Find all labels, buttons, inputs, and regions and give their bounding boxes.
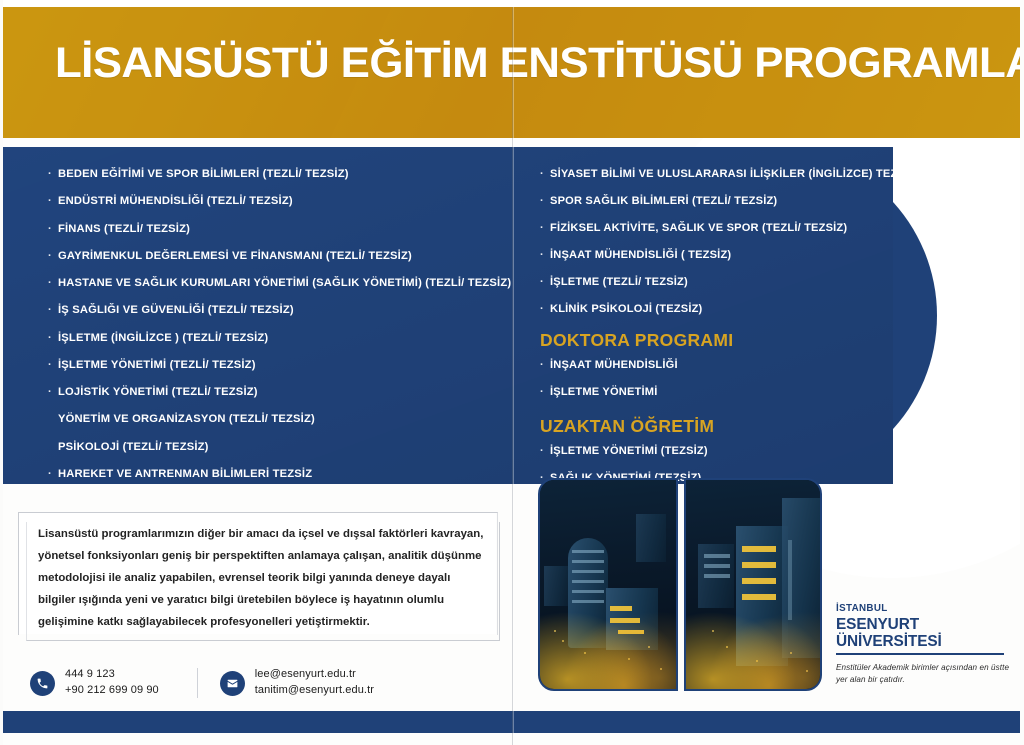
paper-edge-top: [0, 0, 1024, 7]
list-item-label: İŞ SAĞLIĞI VE GÜVENLİĞİ (TEZLİ/ TEZSİZ): [58, 304, 294, 317]
contact-divider: [197, 668, 198, 698]
list-item-label: İŞLETME (İNGİLİZCE ) (TEZLİ/ TEZSİZ): [58, 332, 268, 345]
list-item[interactable]: ·KLİNİK PSİKOLOJİ (TEZSİZ): [540, 303, 920, 316]
phone-line-1: 444 9 123: [65, 667, 159, 683]
list-item-label: ENDÜSTRİ MÜHENDİSLİĞİ (TEZLİ/ TEZSİZ): [58, 195, 293, 208]
list-item[interactable]: ·PSİKOLOJİ (TEZLİ/ TEZSİZ): [48, 441, 508, 454]
logo-university-name: ESENYURT ÜNİVERSİTESİ: [836, 616, 1014, 651]
description-card: Lisansüstü programlarımızın diğer bir am…: [18, 512, 496, 634]
list-item[interactable]: ·SİYASET BİLİMİ VE ULUSLARARASI İLİŞKİLE…: [540, 168, 920, 181]
logo-city-label: İSTANBUL: [836, 604, 1014, 615]
bullet-icon: ·: [540, 222, 550, 235]
campus-photo-right: [684, 478, 822, 691]
bullet-icon: ·: [48, 223, 58, 236]
list-item[interactable]: ·HAREKET VE ANTRENMAN BİLİMLERİ TEZSİZ: [48, 468, 508, 481]
list-item[interactable]: ·İŞLETME YÖNETİMİ: [540, 386, 920, 399]
list-item[interactable]: ·YÖNETİM VE ORGANİZASYON (TEZLİ/ TEZSİZ): [48, 413, 508, 426]
bullet-icon: ·: [48, 195, 58, 208]
list-item-label: İNŞAAT MÜHENDİSLİĞİ ( TEZSİZ): [550, 249, 731, 262]
bullet-icon: ·: [48, 332, 58, 345]
email-lines: lee@esenyurt.edu.tr tanitim@esenyurt.edu…: [255, 667, 374, 698]
bullet-icon: ·: [48, 359, 58, 372]
bullet-icon: ·: [540, 168, 550, 181]
paper-edge-right: [1020, 0, 1024, 745]
list-item[interactable]: ·GAYRİMENKUL DEĞERLEMESİ VE FİNANSMANI (…: [48, 250, 508, 263]
list-item-label: SPOR SAĞLIK BİLİMLERİ (TEZLİ/ TEZSİZ): [550, 195, 777, 208]
bullet-icon: ·: [540, 359, 550, 372]
list-item-label: FİZİKSEL AKTİVİTE, SAĞLIK VE SPOR (TEZLİ…: [550, 222, 847, 235]
bullet-icon: ·: [48, 386, 58, 399]
programs-left-column: ·BEDEN EĞİTİMİ VE SPOR BİLİMLERİ (TEZLİ/…: [48, 168, 508, 495]
contact-row: 444 9 123 +90 212 699 09 90 lee@esenyurt…: [30, 661, 374, 705]
list-item[interactable]: ·HASTANE VE SAĞLIK KURUMLARI YÖNETİMİ (S…: [48, 277, 508, 290]
list-item-label: PSİKOLOJİ (TEZLİ/ TEZSİZ): [58, 441, 209, 454]
bullet-icon: ·: [48, 277, 58, 290]
list-item[interactable]: ·BEDEN EĞİTİMİ VE SPOR BİLİMLERİ (TEZLİ/…: [48, 168, 508, 181]
phone-lines: 444 9 123 +90 212 699 09 90: [65, 667, 159, 698]
university-logo-block: İSTANBUL ESENYURT ÜNİVERSİTESİ Enstitüle…: [836, 604, 1014, 687]
list-item-label: SİYASET BİLİMİ VE ULUSLARARASI İLİŞKİLER…: [550, 168, 915, 181]
page-title: LİSANSÜSTÜ EĞİTİM ENSTİTÜSÜ PROGRAMLARI: [55, 42, 1014, 85]
envelope-icon: [220, 671, 245, 696]
logo-tagline: Enstitüler Akademik birimler açısından e…: [836, 662, 1014, 686]
bullet-icon: ·: [48, 250, 58, 263]
list-item[interactable]: ·İNŞAAT MÜHENDİSLİĞİ: [540, 359, 920, 372]
bullet-icon: ·: [540, 386, 550, 399]
list-item[interactable]: ·İŞLETME (İNGİLİZCE ) (TEZLİ/ TEZSİZ): [48, 332, 508, 345]
list-item[interactable]: ·İŞLETME YÖNETİMİ (TEZLİ/ TEZSİZ): [48, 359, 508, 372]
contact-email[interactable]: lee@esenyurt.edu.tr tanitim@esenyurt.edu…: [220, 667, 374, 698]
list-item-label: İNŞAAT MÜHENDİSLİĞİ: [550, 359, 678, 372]
list-item-label: İŞLETME YÖNETİMİ (TEZLİ/ TEZSİZ): [58, 359, 256, 372]
phone-line-2: +90 212 699 09 90: [65, 683, 159, 699]
bullet-icon: ·: [540, 249, 550, 262]
logo-underline: [836, 653, 1004, 655]
list-item-label: İŞLETME YÖNETİMİ: [550, 386, 657, 399]
list-item-label: BEDEN EĞİTİMİ VE SPOR BİLİMLERİ (TEZLİ/ …: [58, 168, 349, 181]
list-item[interactable]: ·İŞ SAĞLIĞI VE GÜVENLİĞİ (TEZLİ/ TEZSİZ): [48, 304, 508, 317]
list-item-label: İŞLETME YÖNETİMİ (TEZSİZ): [550, 445, 708, 458]
list-item-label: FİNANS (TEZLİ/ TEZSİZ): [58, 223, 190, 236]
programs-right-column: ·SİYASET BİLİMİ VE ULUSLARARASI İLİŞKİLE…: [540, 168, 920, 499]
campus-photo-pair: [538, 478, 822, 693]
list-item-label: HASTANE VE SAĞLIK KURUMLARI YÖNETİMİ (SA…: [58, 277, 511, 290]
list-item[interactable]: ·İNŞAAT MÜHENDİSLİĞİ ( TEZSİZ): [540, 249, 920, 262]
section-heading-uzaktan: UZAKTAN ÖĞRETİM: [540, 416, 920, 437]
bullet-icon: ·: [540, 276, 550, 289]
list-item-label: YÖNETİM VE ORGANİZASYON (TEZLİ/ TEZSİZ): [58, 413, 315, 426]
list-item[interactable]: ·ENDÜSTRİ MÜHENDİSLİĞİ (TEZLİ/ TEZSİZ): [48, 195, 508, 208]
bullet-icon: ·: [48, 304, 58, 317]
paper-edge-left: [0, 0, 3, 745]
list-item[interactable]: ·SPOR SAĞLIK BİLİMLERİ (TEZLİ/ TEZSİZ): [540, 195, 920, 208]
email-line-2: tanitim@esenyurt.edu.tr: [255, 683, 374, 699]
list-item-label: HAREKET VE ANTRENMAN BİLİMLERİ TEZSİZ: [58, 468, 312, 481]
paper-fold-line-highlight: [513, 0, 514, 745]
campus-photo-left: [538, 478, 678, 691]
city-glow: [540, 593, 676, 689]
list-item-label: LOJİSTİK YÖNETİMİ (TEZLİ/ TEZSİZ): [58, 386, 258, 399]
bullet-icon: ·: [540, 303, 550, 316]
list-item[interactable]: ·LOJİSTİK YÖNETİMİ (TEZLİ/ TEZSİZ): [48, 386, 508, 399]
bullet-icon: ·: [48, 468, 58, 481]
city-glow: [686, 593, 820, 689]
list-item-label: GAYRİMENKUL DEĞERLEMESİ VE FİNANSMANI (T…: [58, 250, 412, 263]
list-item[interactable]: ·İŞLETME YÖNETİMİ (TEZSİZ): [540, 445, 920, 458]
section-heading-doktora: DOKTORA PROGRAMI: [540, 330, 920, 351]
bullet-icon: ·: [48, 168, 58, 181]
list-item[interactable]: ·İŞLETME (TEZLİ/ TEZSİZ): [540, 276, 920, 289]
bullet-icon: ·: [540, 445, 550, 458]
brochure-page: LİSANSÜSTÜ EĞİTİM ENSTİTÜSÜ PROGRAMLARI …: [0, 0, 1024, 745]
list-item[interactable]: ·FİZİKSEL AKTİVİTE, SAĞLIK VE SPOR (TEZL…: [540, 222, 920, 235]
email-line-1: lee@esenyurt.edu.tr: [255, 667, 374, 683]
bullet-icon: ·: [540, 195, 550, 208]
contact-phone[interactable]: 444 9 123 +90 212 699 09 90: [30, 667, 159, 698]
list-item-label: KLİNİK PSİKOLOJİ (TEZSİZ): [550, 303, 702, 316]
list-item[interactable]: ·FİNANS (TEZLİ/ TEZSİZ): [48, 223, 508, 236]
list-item-label: İŞLETME (TEZLİ/ TEZSİZ): [550, 276, 688, 289]
phone-icon: [30, 671, 55, 696]
description-text: Lisansüstü programlarımızın diğer bir am…: [38, 524, 488, 633]
